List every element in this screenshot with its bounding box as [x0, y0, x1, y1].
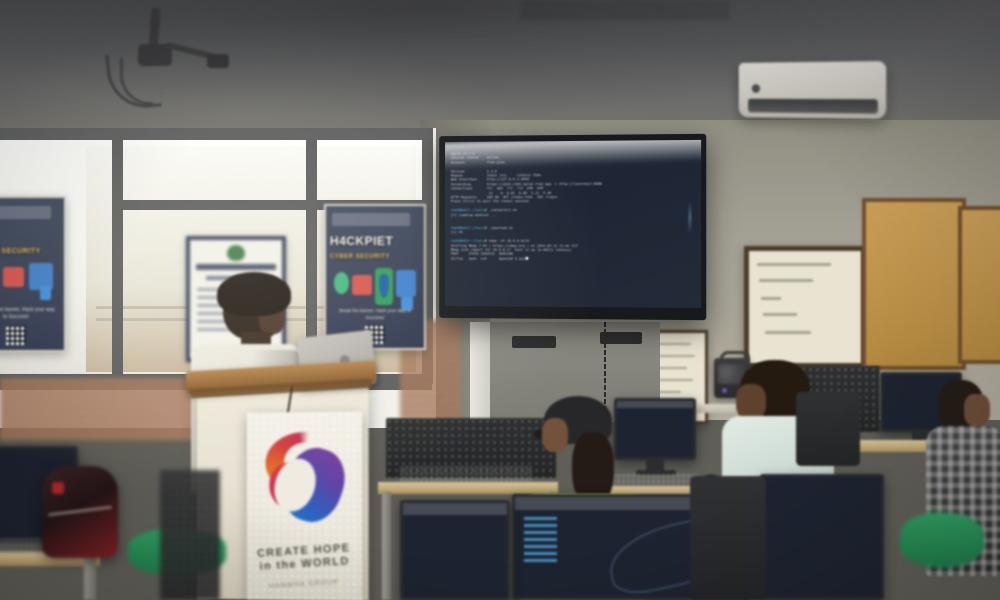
audience-1-face — [542, 418, 568, 452]
whiteboard-note-line — [761, 297, 781, 300]
notice-heading — [196, 264, 276, 270]
whiteboard-note-line — [757, 263, 831, 266]
chair-green — [900, 512, 984, 568]
event-banner: CREATE HOPE in the WORLD HANWHA GROUP — [247, 411, 362, 600]
lab-monitor-front-left[interactable] — [400, 500, 510, 600]
ac-sensor-icon — [752, 84, 760, 93]
wooden-display-board — [862, 198, 966, 370]
poster-left-footer: Express the barrier, Hack your way to Su… — [0, 307, 56, 321]
alert-box-icon — [352, 275, 372, 295]
check-icon — [40, 286, 51, 299]
poster-center-footer: Break the barrier, Hack your way to Succ… — [334, 308, 416, 321]
window-titlebar — [403, 503, 507, 515]
whiteboard — [744, 246, 866, 368]
whiteboard-note-line — [763, 313, 797, 316]
display-screen[interactable]: ngrok-vX.Y.Z Session Status online Accou… — [445, 140, 701, 308]
poster-center-title: H4CKPIET — [330, 234, 420, 248]
whiteboard-note-line — [765, 331, 811, 334]
monitor-screen[interactable] — [763, 477, 881, 597]
ac-vent — [748, 99, 878, 114]
ceiling-microphone-icon — [207, 54, 229, 68]
poster-hackpiet-center: H4CKPIET CYBER SECURITY Break the barrie… — [324, 204, 426, 350]
poster-center-artwork — [334, 268, 416, 305]
desk-leg — [382, 492, 391, 600]
air-conditioner — [739, 61, 886, 119]
chat-bubble-icon — [334, 272, 349, 294]
desk-privacy-panel-left — [160, 470, 220, 600]
poster-left-title: IET — [0, 228, 60, 243]
institute-emblem-icon — [227, 245, 245, 261]
shield-icon — [375, 268, 393, 305]
chair-backrest — [796, 392, 860, 466]
chair-backrest-front — [690, 476, 766, 600]
outdoor-brick-wall — [0, 378, 200, 440]
poster-header-band — [332, 213, 410, 226]
wall-door-edge — [470, 322, 490, 432]
audience-2-face — [736, 384, 766, 420]
lab-photo-scene: IET CYBER SECURITY Express the barrier, … — [0, 0, 1000, 600]
poster-hackpiet-left: IET CYBER SECURITY Express the barrier, … — [0, 196, 66, 352]
window-frame-top — [0, 128, 432, 140]
wall-display[interactable]: ngrok-vX.Y.Z Session Status online Accou… — [439, 134, 706, 320]
poster-center-subtitle: CYBER SECURITY — [330, 254, 420, 260]
qr-code-icon — [6, 326, 25, 346]
wooden-display-board-2 — [958, 206, 1000, 364]
whiteboard-note-line — [759, 279, 813, 282]
poster-left-subtitle: CYBER SECURITY — [0, 248, 60, 255]
poster-left-artwork — [0, 259, 56, 299]
wall-plate — [512, 336, 556, 348]
backpack — [42, 466, 118, 558]
poster-header-band — [0, 206, 51, 220]
backpack-zipper — [48, 506, 112, 516]
lab-monitor-foreground-right[interactable] — [760, 474, 884, 600]
organization-logo-icon — [260, 432, 350, 525]
audience-3-face — [964, 394, 990, 426]
window-mullion-1 — [112, 128, 123, 384]
monitor-screen[interactable] — [403, 503, 507, 597]
presenter-hair — [217, 272, 291, 316]
desktop-dock[interactable] — [524, 517, 556, 565]
alert-box-icon — [3, 267, 24, 287]
screen-reflection — [689, 200, 691, 234]
monitor-icon — [396, 270, 416, 297]
wall-plate-2 — [600, 332, 642, 344]
